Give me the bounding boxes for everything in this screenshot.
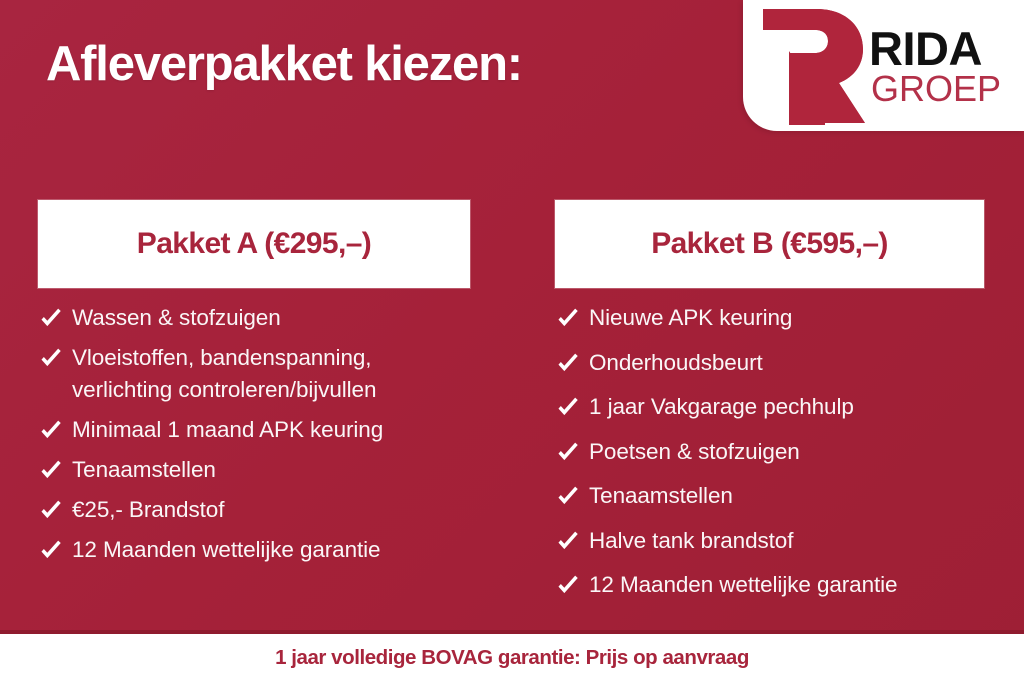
list-item: Vloeistoffen, bandenspanning, verlichtin… xyxy=(38,342,470,405)
check-icon xyxy=(555,529,581,555)
check-icon xyxy=(555,306,581,332)
feature-label: 12 Maanden wettelijke garantie xyxy=(72,534,380,566)
feature-label: Onderhoudsbeurt xyxy=(589,347,763,379)
package-feature-list-pakket-a: Wassen & stofzuigen Vloeistoffen, banden… xyxy=(38,302,470,565)
package-card-pakket-a[interactable]: Pakket A (€295,–) Wassen & stofzuigen Vl… xyxy=(38,200,470,614)
poster-canvas: Afleverpakket kiezen: RIDA GROEP Pakket … xyxy=(0,0,1024,682)
check-icon xyxy=(555,351,581,377)
brand-logo-panel: RIDA GROEP xyxy=(743,0,1024,131)
check-icon xyxy=(555,440,581,466)
brand-name-primary: RIDA xyxy=(869,27,1001,71)
package-heading-pakket-b: Pakket B (€595,–) xyxy=(555,200,984,288)
package-title-pakket-a: Pakket A (€295,–) xyxy=(137,227,371,261)
package-card-pakket-b[interactable]: Pakket B (€595,–) Nieuwe APK keuring Ond… xyxy=(555,200,984,614)
feature-label: Minimaal 1 maand APK keuring xyxy=(72,414,383,446)
list-item: Wassen & stofzuigen xyxy=(38,302,470,334)
check-icon xyxy=(38,346,64,372)
rida-r-mark-icon xyxy=(759,7,867,125)
package-columns: Pakket A (€295,–) Wassen & stofzuigen Vl… xyxy=(0,200,1024,614)
feature-label: €25,- Brandstof xyxy=(72,494,224,526)
check-icon xyxy=(38,538,64,564)
list-item: Tenaamstellen xyxy=(38,454,470,486)
list-item: Tenaamstellen xyxy=(555,480,984,512)
brand-wordmark: RIDA GROEP xyxy=(869,25,1001,106)
list-item: Halve tank brandstof xyxy=(555,525,984,557)
footer-text: 1 jaar volledige BOVAG garantie: Prijs o… xyxy=(275,646,749,670)
list-item: 1 jaar Vakgarage pechhulp xyxy=(555,391,984,423)
package-heading-pakket-a: Pakket A (€295,–) xyxy=(38,200,470,288)
feature-label: Halve tank brandstof xyxy=(589,525,793,557)
package-title-pakket-b: Pakket B (€595,–) xyxy=(651,227,888,261)
list-item: Onderhoudsbeurt xyxy=(555,347,984,379)
check-icon xyxy=(38,306,64,332)
check-icon xyxy=(38,498,64,524)
feature-label: Wassen & stofzuigen xyxy=(72,302,281,334)
brand-name-secondary: GROEP xyxy=(871,72,1001,106)
feature-label: Vloeistoffen, bandenspanning, verlichtin… xyxy=(72,342,470,405)
check-icon xyxy=(38,418,64,444)
check-icon xyxy=(38,458,64,484)
list-item: 12 Maanden wettelijke garantie xyxy=(555,569,984,601)
feature-label: Poetsen & stofzuigen xyxy=(589,436,800,468)
feature-label: 1 jaar Vakgarage pechhulp xyxy=(589,391,854,423)
feature-label: Tenaamstellen xyxy=(589,480,733,512)
list-item: Minimaal 1 maand APK keuring xyxy=(38,414,470,446)
feature-label: Nieuwe APK keuring xyxy=(589,302,792,334)
list-item: Nieuwe APK keuring xyxy=(555,302,984,334)
list-item: Poetsen & stofzuigen xyxy=(555,436,984,468)
check-icon xyxy=(555,484,581,510)
package-feature-list-pakket-b: Nieuwe APK keuring Onderhoudsbeurt 1 jaa… xyxy=(555,302,984,601)
check-icon xyxy=(555,395,581,421)
feature-label: Tenaamstellen xyxy=(72,454,216,486)
page-title: Afleverpakket kiezen: xyxy=(46,36,522,92)
footer-banner: 1 jaar volledige BOVAG garantie: Prijs o… xyxy=(0,634,1024,682)
feature-label: 12 Maanden wettelijke garantie xyxy=(589,569,897,601)
check-icon xyxy=(555,573,581,599)
list-item: 12 Maanden wettelijke garantie xyxy=(38,534,470,566)
list-item: €25,- Brandstof xyxy=(38,494,470,526)
